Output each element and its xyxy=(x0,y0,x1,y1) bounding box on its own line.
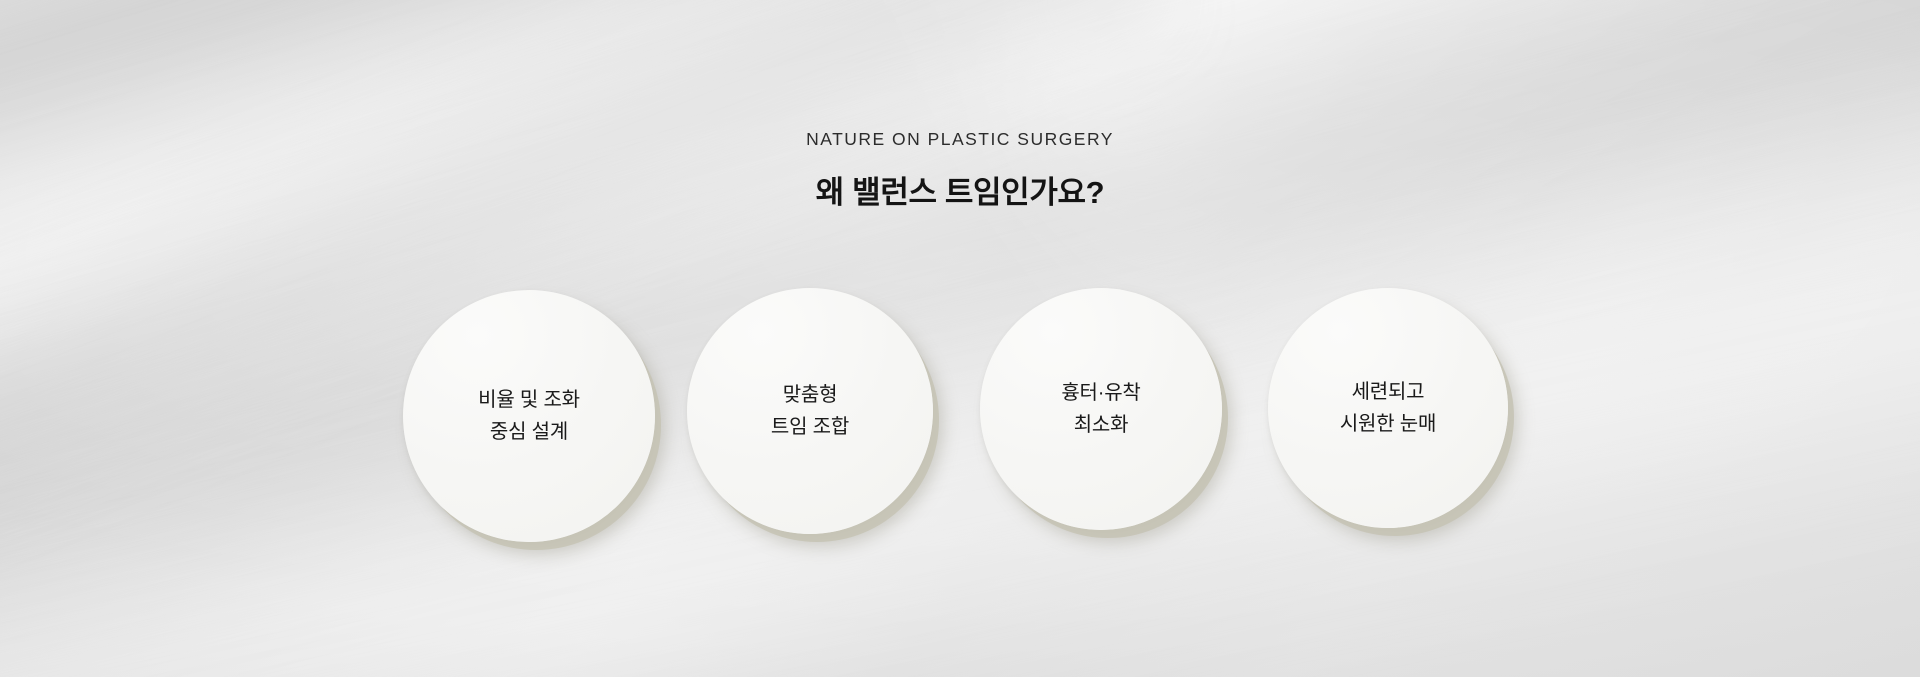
benefit-circle-proportion-harmony[interactable]: 비율 및 조화 중심 설계 xyxy=(403,290,655,542)
benefit-label-line-1: 맞춤형 xyxy=(771,379,849,411)
benefit-label-line-2: 시원한 눈매 xyxy=(1340,408,1436,440)
benefit-label-line-1: 비율 및 조화 xyxy=(478,384,580,416)
benefit-label: 흉터·유착 최소화 xyxy=(1061,377,1140,442)
section-heading-block: NATURE ON PLASTIC SURGERY 왜 밸런스 트임인가요? xyxy=(0,131,1920,212)
benefit-circle-refined-eyes[interactable]: 세련되고 시원한 눈매 xyxy=(1268,288,1508,528)
benefit-label: 세련되고 시원한 눈매 xyxy=(1340,376,1436,441)
benefit-label: 맞춤형 트임 조합 xyxy=(771,379,849,444)
section-eyebrow: NATURE ON PLASTIC SURGERY xyxy=(0,131,1920,149)
benefit-circle-custom-incision[interactable]: 맞춤형 트임 조합 xyxy=(687,288,933,534)
benefit-label-line-2: 최소화 xyxy=(1061,409,1140,441)
benefit-circle-scar-adhesion[interactable]: 흉터·유착 최소화 xyxy=(980,288,1222,530)
benefit-label-line-1: 세련되고 xyxy=(1340,376,1436,408)
page-title: 왜 밸런스 트임인가요? xyxy=(0,174,1920,213)
benefit-label-line-2: 트임 조합 xyxy=(771,411,849,443)
benefit-circle-group: 비율 및 조화 중심 설계 맞춤형 트임 조합 흉터·유착 최소화 세련되고 시… xyxy=(0,0,1920,677)
hero-section: NATURE ON PLASTIC SURGERY 왜 밸런스 트임인가요? 비… xyxy=(0,0,1920,677)
benefit-label: 비율 및 조화 중심 설계 xyxy=(478,384,580,449)
benefit-label-line-1: 흉터·유착 xyxy=(1061,377,1140,409)
benefit-label-line-2: 중심 설계 xyxy=(478,416,580,448)
